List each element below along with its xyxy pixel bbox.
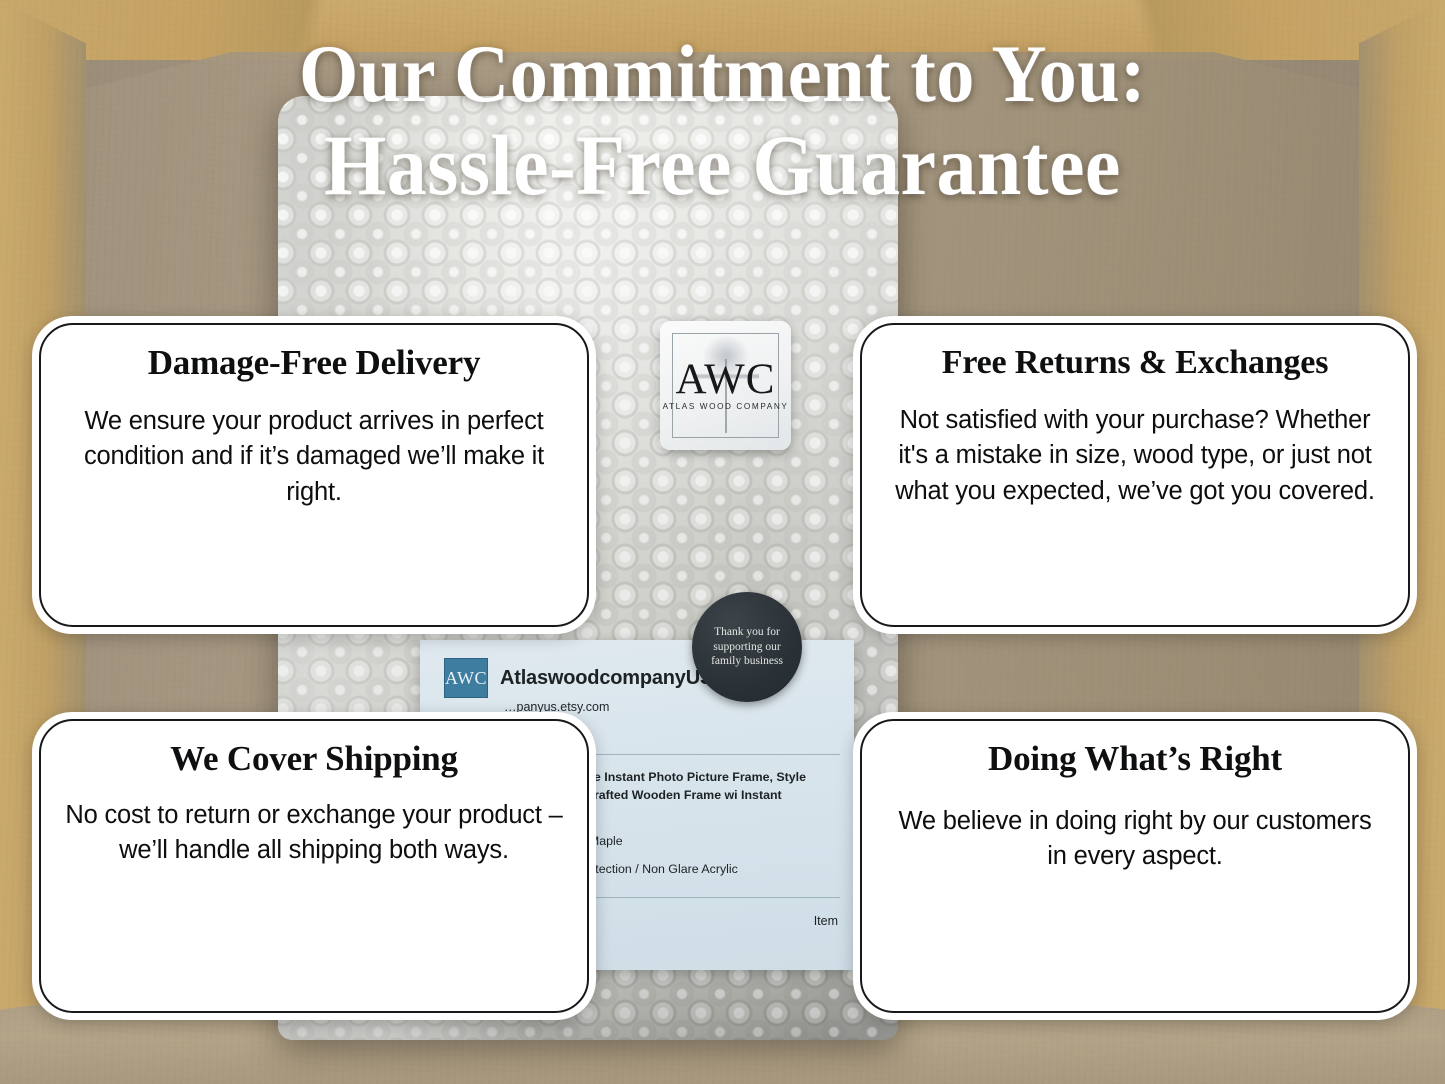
- shop-name: AtlaswoodcompanyUS: [500, 667, 713, 690]
- feature-card-body: No cost to return or exchange your produ…: [65, 798, 563, 869]
- feature-card-inner: Damage-Free Delivery We ensure your prod…: [39, 323, 589, 627]
- feature-card-inner: We Cover Shipping No cost to return or e…: [39, 719, 589, 1013]
- feature-card-body: Not satisfied with your purchase? Whethe…: [886, 403, 1384, 510]
- thank-you-sticker-text: Thank you for supporting our family busi…: [692, 625, 802, 669]
- feature-card-title: We Cover Shipping: [170, 741, 458, 778]
- awc-company-name: ATLAS WOOD COMPANY: [663, 402, 789, 411]
- feature-card-doing-whats-right: Doing What’s Right We believe in doing r…: [853, 712, 1417, 1020]
- feature-card-title: Free Returns & Exchanges: [942, 345, 1328, 381]
- awc-logo-icon: AWC: [444, 658, 488, 698]
- promo-graphic: AWC AtlaswoodcompanyUS …panyus.etsy.com …: [0, 0, 1445, 1084]
- feature-card-body: We believe in doing right by our custome…: [886, 804, 1384, 875]
- feature-card-title: Doing What’s Right: [988, 741, 1282, 778]
- awc-brand-sticker: AWC ATLAS WOOD COMPANY: [660, 321, 791, 450]
- feature-card-body: We ensure your product arrives in perfec…: [65, 404, 563, 511]
- feature-card-title: Damage-Free Delivery: [148, 345, 481, 382]
- feature-card-free-returns-exchanges: Free Returns & Exchanges Not satisfied w…: [853, 316, 1417, 634]
- feature-card-inner: Free Returns & Exchanges Not satisfied w…: [860, 323, 1410, 627]
- feature-card-inner: Doing What’s Right We believe in doing r…: [860, 719, 1410, 1013]
- feature-card-we-cover-shipping: We Cover Shipping No cost to return or e…: [32, 712, 596, 1020]
- feature-card-damage-free-delivery: Damage-Free Delivery We ensure your prod…: [32, 316, 596, 634]
- awc-sticker-text: AWC ATLAS WOOD COMPANY: [663, 360, 789, 411]
- thank-you-sticker: Thank you for supporting our family busi…: [692, 592, 802, 702]
- awc-monogram: AWC: [663, 360, 789, 401]
